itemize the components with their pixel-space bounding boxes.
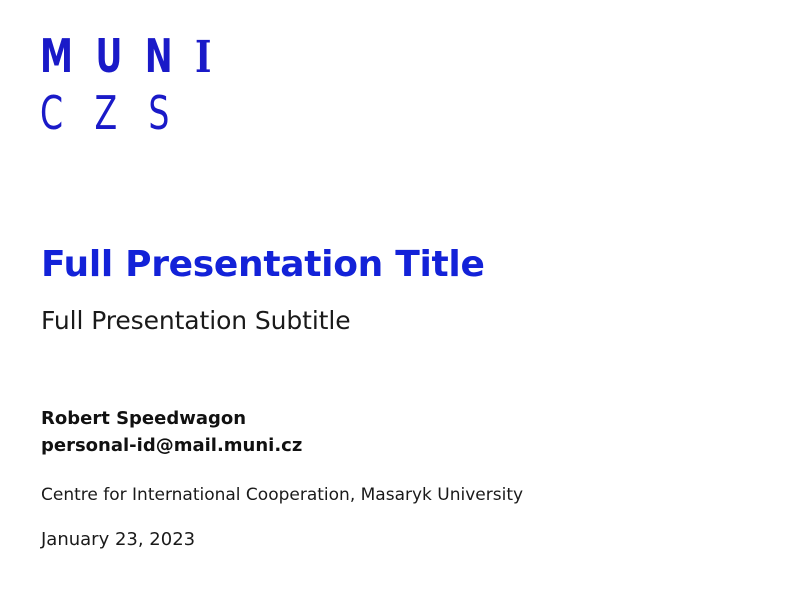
logo-letter-i: I: [195, 32, 221, 83]
page-subtitle: Full Presentation Subtitle: [41, 306, 351, 336]
presentation-title-slide: M U N I C Z S Full Presentation Title Fu…: [0, 0, 794, 596]
author-block: Robert Speedwagon personal-id@mail.muni.…: [41, 406, 302, 459]
affiliation-text: Centre for International Cooperation, Ma…: [41, 484, 523, 506]
page-title: Full Presentation Title: [41, 245, 485, 285]
logo-line-muni: M U N I: [40, 33, 221, 80]
muni-czs-logo: M U N I C Z S: [40, 33, 266, 136]
author-email: personal-id@mail.muni.cz: [41, 433, 302, 460]
logo-line-czs: C Z S: [40, 90, 221, 136]
presentation-date: January 23, 2023: [41, 528, 195, 551]
author-name: Robert Speedwagon: [41, 406, 302, 433]
